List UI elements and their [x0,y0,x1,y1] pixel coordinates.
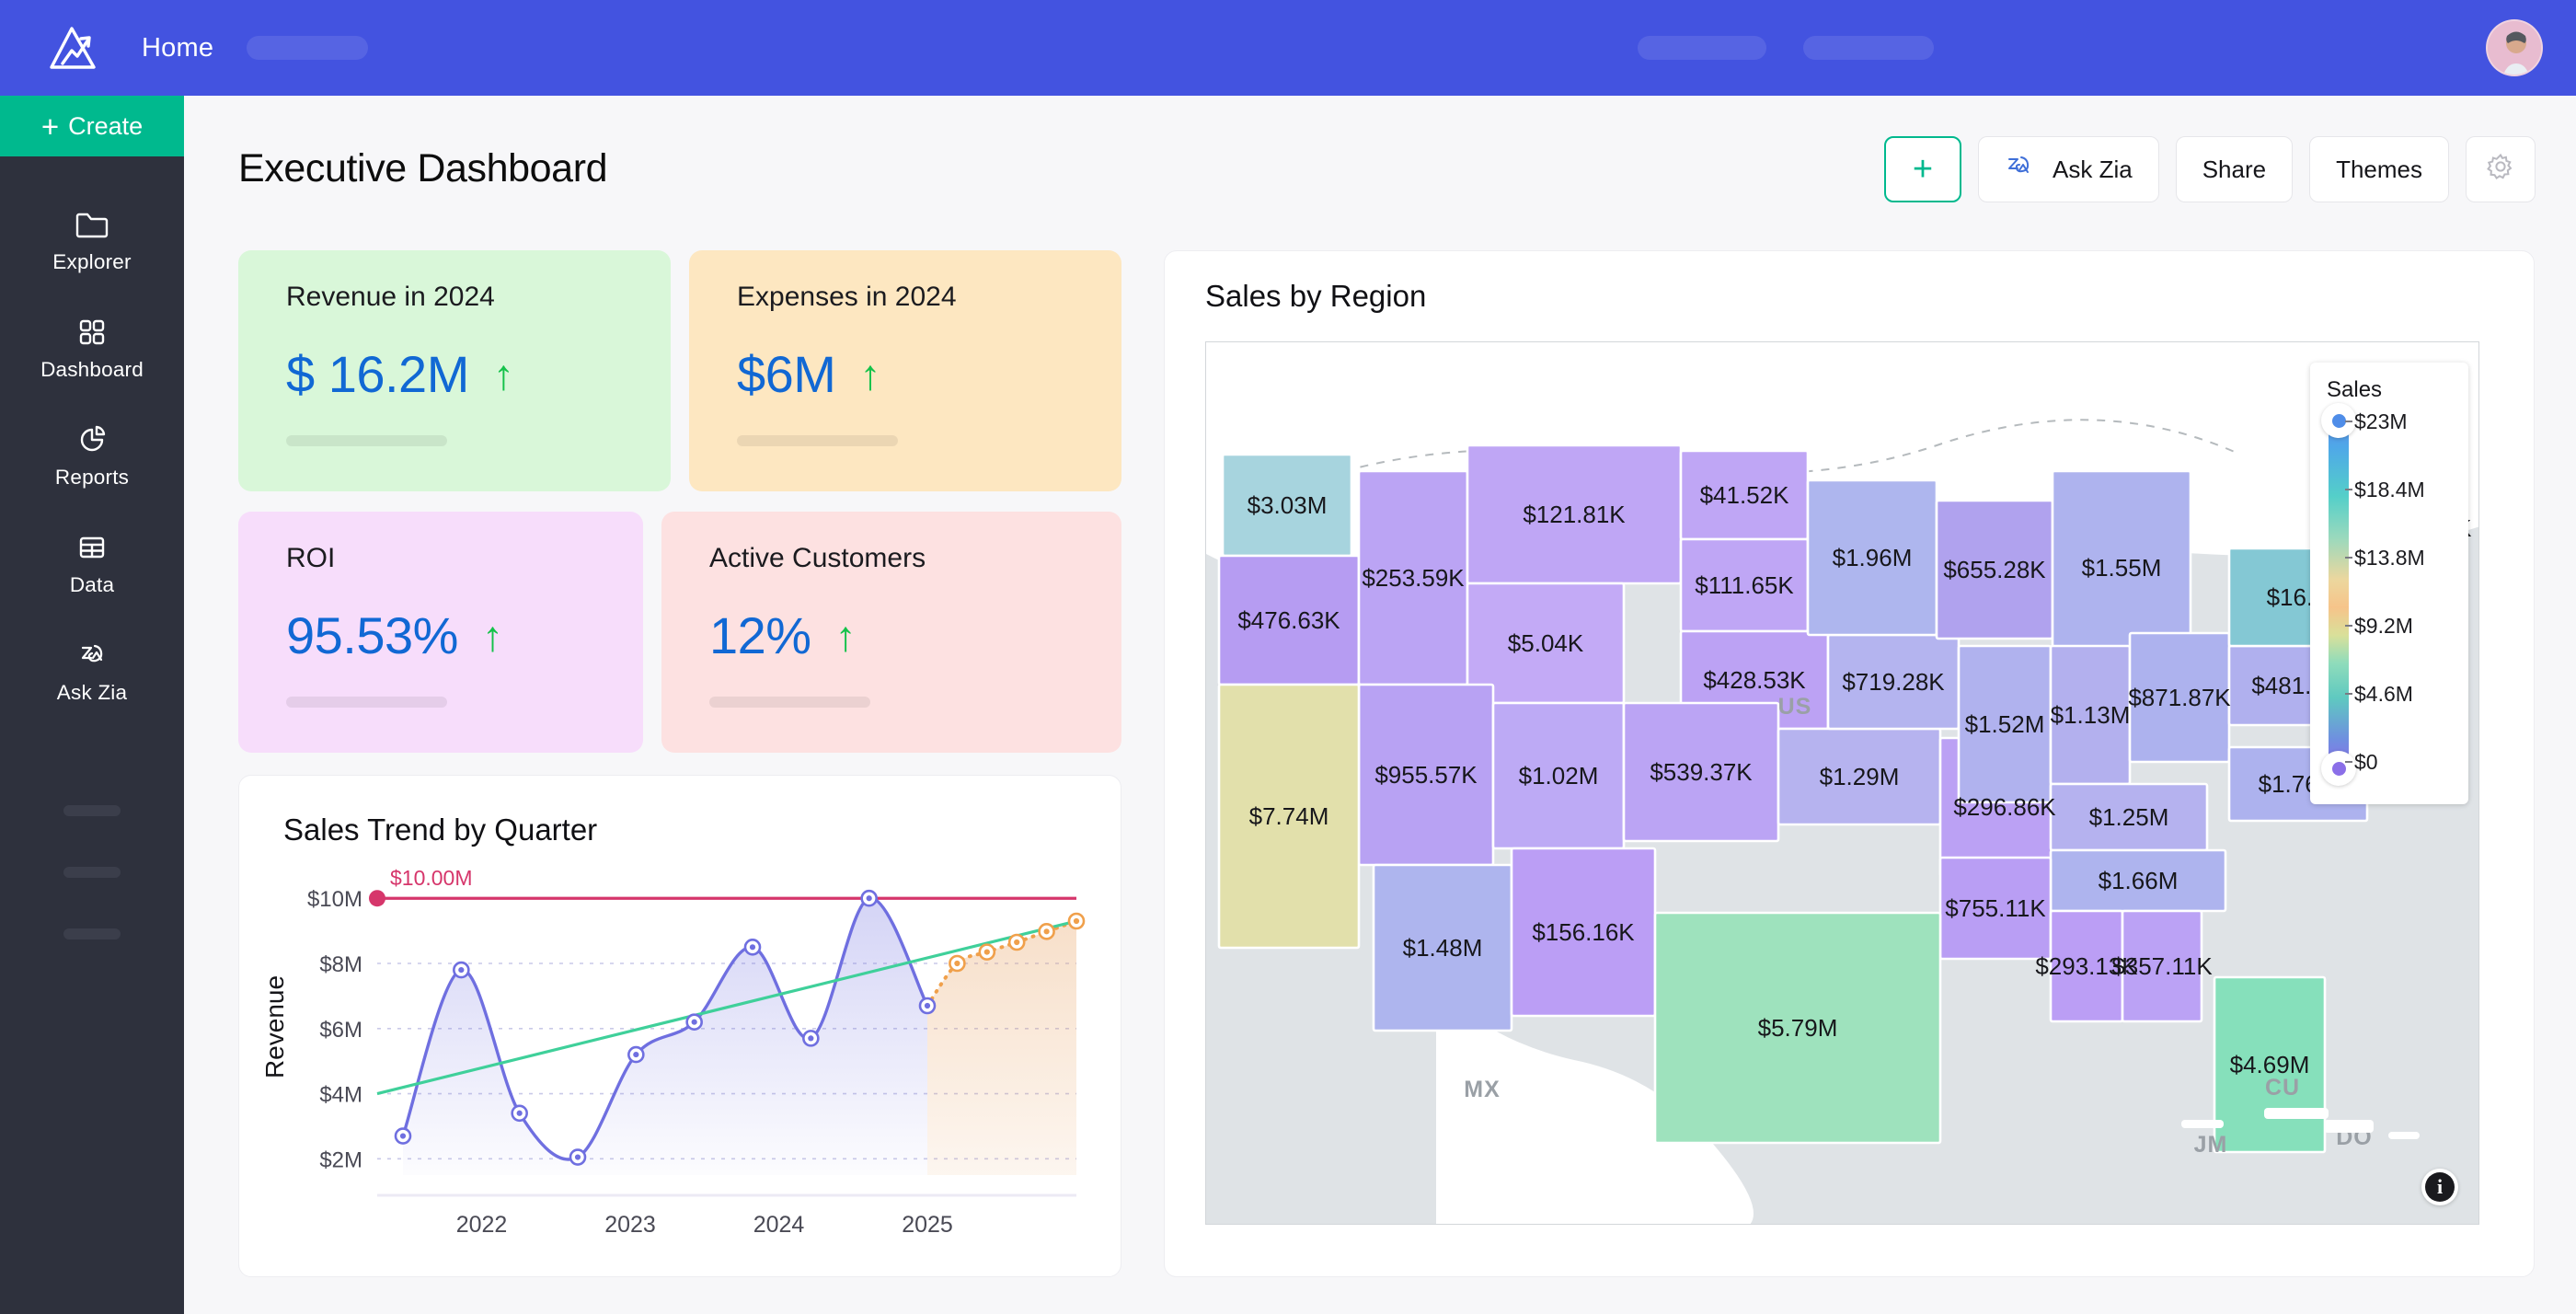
legend-title: Sales [2327,377,2468,403]
map-canvas[interactable]: $3.03M$476.63K$253.59K$121.81K$41.52K$11… [1205,341,2479,1225]
app-logo-icon[interactable] [44,19,107,76]
chart-title: Sales Trend by Quarter [283,813,597,847]
map-state-value-OR: $476.63K [1237,606,1340,634]
nav-placeholder-1 [247,36,368,60]
map-title: Sales by Region [1205,279,1426,314]
kpi-card-roi[interactable]: ROI 95.53% ↑ [238,512,643,753]
svg-text:2023: 2023 [604,1212,656,1238]
svg-text:$6M: $6M [319,1018,362,1043]
map-state-value-WY: $5.04K [1508,629,1584,657]
legend-tick: $18.4M [2354,478,2425,502]
legend-tick: $4.6M [2354,682,2413,707]
ask-zia-button[interactable]: Ask Zia [1978,136,2159,202]
sidebar-placeholder-2 [63,867,121,878]
kpi-placeholder [737,435,898,446]
sidebar-placeholder-1 [63,805,121,816]
map-country-label-MX: MX [1464,1077,1501,1102]
trend-up-icon: ↑ [859,353,880,396]
main-content: Executive Dashboard + Ask Zia Share Them… [184,96,2576,1314]
kpi-value: $6M [737,344,835,404]
map-state-value-CA: $7.74M [1249,802,1329,830]
map-state-value-MO: $296.86K [1953,793,2056,821]
zia-icon [75,640,109,671]
kpi-placeholder [286,697,447,708]
themes-button[interactable]: Themes [2309,136,2449,202]
map-state-value-NM: $156.16K [1532,918,1635,946]
legend-tick: $13.8M [2354,546,2425,571]
svg-text:$8M: $8M [319,952,362,977]
sidebar-placeholder-3 [63,928,121,939]
map-state-value-TN: $1.66M [2099,867,2179,894]
sidebar-item-label: Reports [55,466,129,490]
table-icon [75,532,109,563]
svg-text:$4M: $4M [319,1083,362,1108]
sidebar-item-label: Explorer [52,250,131,274]
kpi-placeholder [709,697,870,708]
kpi-title: Expenses in 2024 [737,282,1121,313]
svg-text:$2M: $2M [319,1147,362,1172]
ask-zia-label: Ask Zia [2053,156,2133,184]
map-state-value-IN: $1.13M [2051,701,2131,729]
map-state-value-AL: $357.11K [2111,952,2213,980]
map-state-value-SD: $111.65K [1695,571,1794,599]
zia-icon [2005,154,2040,186]
gear-icon [2485,151,2516,189]
map-state-value-MT: $121.81K [1523,501,1626,528]
sidebar-item-reports[interactable]: Reports [0,403,184,511]
svg-text:2024: 2024 [753,1212,805,1238]
map-state-value-WA: $3.03M [1248,491,1328,519]
map-info-button[interactable]: i [2421,1169,2458,1205]
map-state-value-IA: $719.28K [1842,668,1945,696]
create-label: Create [68,112,143,141]
folder-icon [75,209,109,240]
map-state-value-KS: $1.29M [1820,763,1900,790]
svg-text:$10.00M: $10.00M [390,866,473,890]
map-state-value-CO: $539.37K [1650,758,1753,786]
svg-text:2025: 2025 [902,1212,953,1238]
kpi-value: 95.53% [286,605,458,665]
kpi-value: $ 16.2M [286,344,469,404]
sales-trend-chart-card[interactable]: Sales Trend by Quarter Revenue$2M$4M$6M$… [238,775,1121,1277]
info-icon: i [2425,1172,2455,1202]
share-button[interactable]: Share [2176,136,2293,202]
kpi-title: Active Customers [709,543,1121,574]
legend-tick: $0 [2354,750,2378,775]
sidebar: + Create Explorer Dashboard [0,96,184,1314]
kpi-value-row: $6M ↑ [737,344,1121,404]
add-widget-button[interactable]: + [1884,136,1961,202]
map-state-value-NE: $428.53K [1703,666,1806,694]
sidebar-item-label: Dashboard [40,358,144,382]
map-state-value-NV: $955.57K [1374,761,1478,789]
sales-by-region-card[interactable]: Sales by Region $3.03M$476.63K$253.59K$1… [1164,250,2535,1277]
map-state-value-MI: $1.55M [2082,554,2162,582]
map-state-value-WI: $655.28K [1943,556,2046,583]
pie-chart-icon [75,424,109,455]
map-state-value-UT: $1.02M [1519,762,1599,790]
map-state-value-ND: $41.52K [1700,481,1790,509]
kpi-card-revenue[interactable]: Revenue in 2024 $ 16.2M ↑ [238,250,671,491]
sidebar-item-dashboard[interactable]: Dashboard [0,295,184,403]
top-bar: Home [0,0,2576,96]
settings-button[interactable] [2466,136,2536,202]
plus-icon: + [41,111,59,142]
svg-text:2022: 2022 [456,1212,508,1238]
kpi-value-row: 12% ↑ [709,605,1121,665]
svg-text:Revenue: Revenue [260,975,289,1078]
sidebar-nav: Explorer Dashboard Reports [0,156,184,726]
map-state-value-TX: $5.79M [1758,1014,1838,1042]
nav-placeholder-3 [1803,36,1934,60]
legend-scale: $23M $18.4M $13.8M $9.2M $4.6M $0 [2310,410,2468,778]
page-title: Executive Dashboard [238,146,607,191]
grid-squares-icon [75,317,109,348]
sidebar-placeholders [0,805,184,939]
sidebar-item-label: Data [70,573,114,597]
legend-min-handle[interactable] [2321,751,2356,786]
kpi-placeholder [286,435,447,446]
sidebar-item-label: Ask Zia [57,681,127,705]
map-country-label-JM: JM [2194,1132,2228,1158]
legend-min-dot [2332,762,2346,776]
map-state-value-AR: $755.11K [1945,894,2046,922]
sidebar-item-data[interactable]: Data [0,511,184,618]
map-state-value-OH: $871.87K [2128,684,2231,711]
map-legend: Sales $23M $18.4M $13.8M $9.2M $4.6M $0 [2310,363,2468,804]
kpi-title: ROI [286,543,643,574]
nav-placeholder-2 [1638,36,1766,60]
legend-gradient-bar [2329,420,2349,767]
dashboard-toolbar: + Ask Zia Share Themes [1884,136,2536,202]
legend-tick: $23M [2354,409,2408,434]
kpi-value: 12% [709,605,811,665]
kpi-card-expenses[interactable]: Expenses in 2024 $6M ↑ [689,250,1121,491]
map-state-value-IL: $1.52M [1965,710,2045,738]
kpi-value-row: 95.53% ↑ [286,605,643,665]
map-state-value-ID: $253.59K [1362,564,1465,592]
map-state-value-MN: $1.96M [1833,544,1913,571]
legend-tick: $9.2M [2354,614,2413,639]
legend-max-dot [2332,414,2346,428]
svg-text:$10M: $10M [307,887,362,912]
sidebar-item-ask-zia[interactable]: Ask Zia [0,618,184,726]
map-country-label-CU: CU [2265,1075,2300,1101]
kpi-card-active-customers[interactable]: Active Customers 12% ↑ [661,512,1121,753]
trend-up-icon: ↑ [835,615,857,657]
map-country-label-US: US [1778,694,1812,720]
sidebar-item-explorer[interactable]: Explorer [0,188,184,295]
kpi-value-row: $ 16.2M ↑ [286,344,671,404]
home-link[interactable]: Home [142,33,213,63]
create-button[interactable]: + Create [0,96,184,156]
sales-trend-chart: Revenue$2M$4M$6M$8M$10M$10.00M2022202320… [239,853,1122,1276]
kpi-title: Revenue in 2024 [286,282,671,313]
map-state-value-KY: $1.25M [2089,803,2169,831]
avatar[interactable] [2486,19,2543,76]
map-state-value-AZ: $1.48M [1403,934,1483,962]
trend-up-icon: ↑ [482,615,503,657]
trend-up-icon: ↑ [493,353,514,396]
